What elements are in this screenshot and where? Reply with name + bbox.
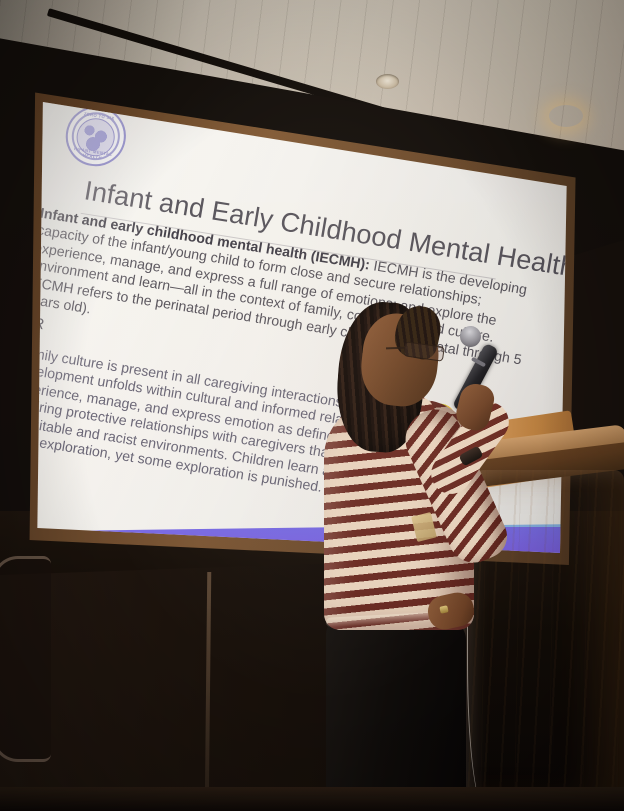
microphone-head-icon xyxy=(456,322,484,350)
chair-silhouette xyxy=(0,556,51,762)
speaker xyxy=(300,300,520,811)
presentation-photo: ZERO TO SIX INFANT MENTAL HEALTH Infant … xyxy=(0,0,624,811)
stage-base xyxy=(0,787,624,811)
speaker-trousers xyxy=(326,618,466,811)
